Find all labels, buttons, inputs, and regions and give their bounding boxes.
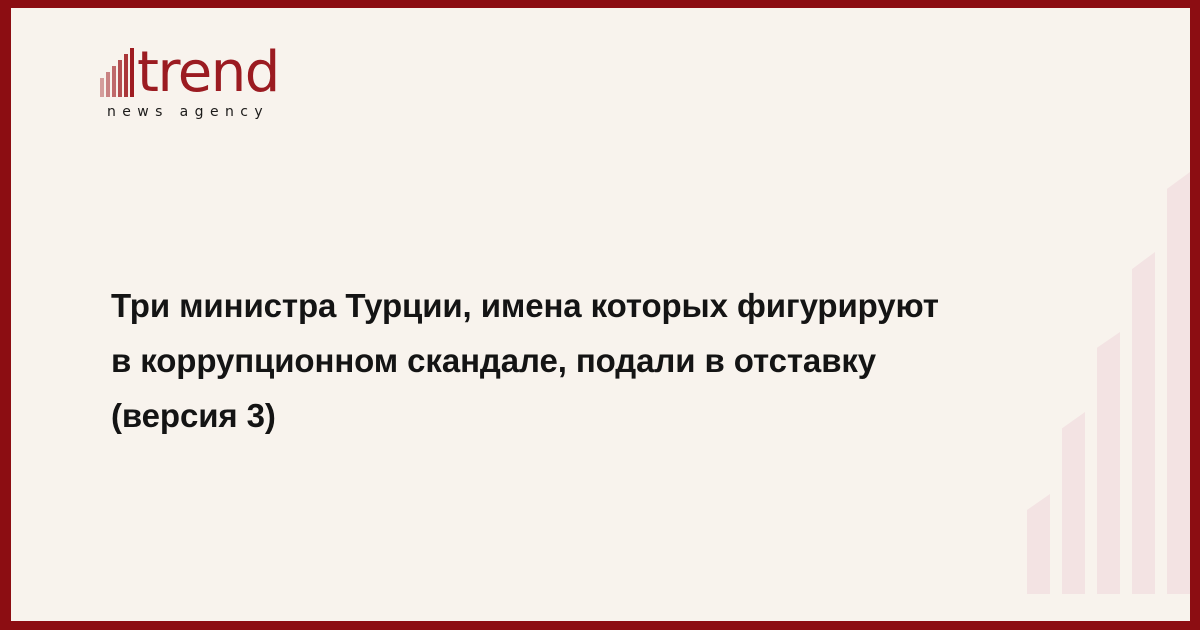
watermark-bar-3 [1097,332,1120,594]
watermark-bar-5 [1167,172,1190,594]
watermark-bar-4 [1132,252,1155,594]
logo-bar-3 [112,66,116,97]
headline-line-3: (версия 3) [111,388,1086,443]
card-canvas: trend news agency Три министра Турции, и… [11,8,1190,621]
watermark-bar-1 [1027,494,1050,594]
logo-wordmark: trend [137,48,279,98]
page-title: Три министра Турции, имена которых фигур… [111,278,1086,443]
trend-logo[interactable]: trend news agency [100,45,400,120]
logo-bar-4 [118,60,122,97]
logo-tagline: news agency [107,104,400,120]
logo-bar-2 [106,72,110,97]
ascending-bars-icon [100,51,136,97]
headline-line-2: в коррупционном скандале, подали в отста… [111,333,1086,388]
logo-bar-6 [130,48,134,97]
logo-bar-5 [124,54,128,97]
logo-bar-1 [100,78,104,97]
headline-line-1: Три министра Турции, имена которых фигур… [111,278,1086,333]
share-card: trend news agency Три министра Турции, и… [0,0,1200,630]
logo-mark: trend [100,45,400,98]
